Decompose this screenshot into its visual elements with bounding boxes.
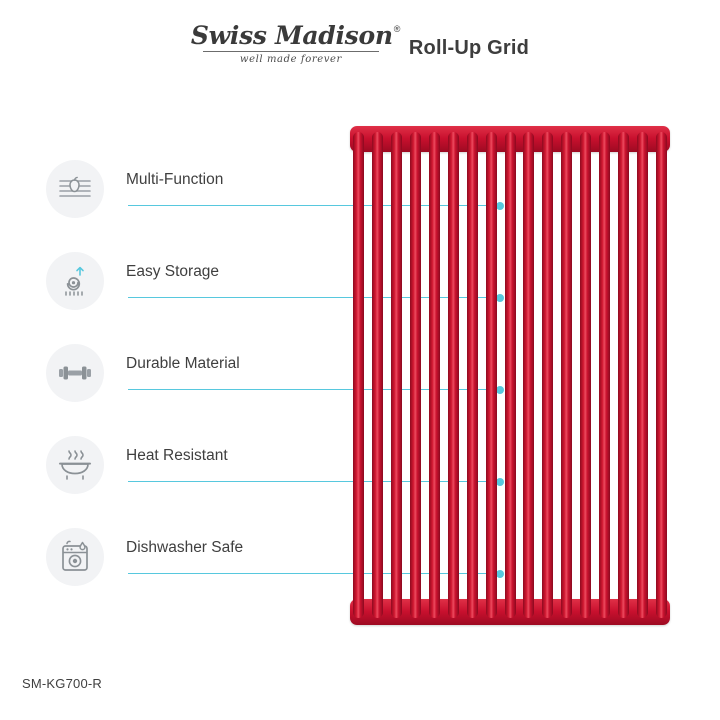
hot-pot-icon [57,449,93,481]
grid-rod [372,132,383,618]
feature-badge [46,252,104,310]
grid-rod [656,132,667,618]
feature-badge [46,436,104,494]
feature-item-easy-storage: Easy Storage [40,252,340,344]
feature-item-dishwasher-safe: Dishwasher Safe [40,528,340,620]
brand-logo: Swiss Madison® well made forever [191,21,391,65]
grid-rod [561,132,572,618]
grid-rod [637,132,648,618]
grid-rod [429,132,440,618]
brand-name-text: Swiss Madison [191,21,393,50]
feature-badge [46,160,104,218]
registered-trademark-icon: ® [394,24,400,34]
product-sku: SM-KG700-R [22,676,102,691]
grid-rod [448,132,459,618]
brand-tagline: well made forever [191,54,391,65]
dumbbell-icon [55,361,95,385]
grid-rod [618,132,629,618]
page-title: Roll-Up Grid [409,21,529,60]
grid-rod [467,132,478,618]
feature-badge [46,344,104,402]
grid-rod [410,132,421,618]
feature-label: Durable Material [126,355,240,373]
product-image [340,118,680,628]
roll-spiral-icon [57,265,93,297]
grid-rod [505,132,516,618]
grid-rod [542,132,553,618]
grill-apple-icon [57,174,93,204]
grid-rod [599,132,610,618]
grid-rod [580,132,591,618]
brand-name: Swiss Madison® [191,23,391,49]
grid-rod [353,132,364,618]
grid-rod [391,132,402,618]
brand-divider [203,51,379,52]
feature-label: Dishwasher Safe [126,539,243,557]
feature-label: Easy Storage [126,263,219,281]
feature-label: Heat Resistant [126,447,228,465]
grid-rod [486,132,497,618]
feature-badge [46,528,104,586]
page-header: Swiss Madison® well made forever Roll-Up… [0,0,720,86]
feature-list: Multi-Function Easy Storage [40,160,340,620]
dishwasher-icon [58,540,92,574]
feature-item-multi-function: Multi-Function [40,160,340,252]
feature-item-heat-resistant: Heat Resistant [40,436,340,528]
grid-rod [523,132,534,618]
feature-label: Multi-Function [126,171,223,189]
brand-block: Swiss Madison® well made forever Roll-Up… [191,21,529,65]
feature-item-durable-material: Durable Material [40,344,340,436]
